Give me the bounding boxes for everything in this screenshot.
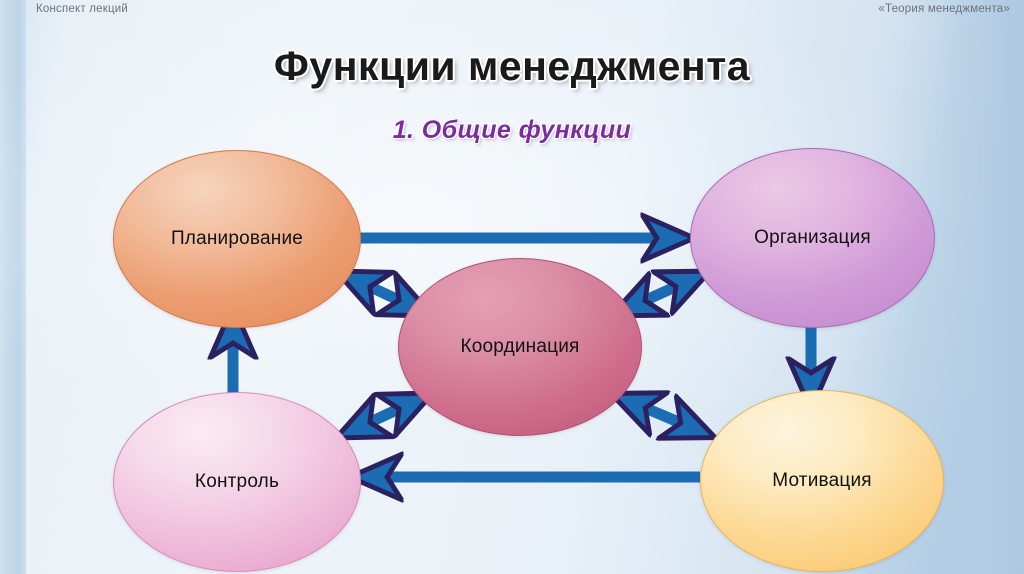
slide: Конспект лекций «Теория менеджмента» Фун… <box>0 0 1024 574</box>
header-left-text: Конспект лекций <box>36 3 128 15</box>
slide-header: Конспект лекций «Теория менеджмента» <box>0 0 1024 22</box>
arrow-organization-coordination <box>624 277 697 310</box>
slide-title: Функции менеджмента <box>0 43 1024 90</box>
slide-subtitle: 1. Общие функции <box>0 116 1024 145</box>
node-coordination-label: Координация <box>460 336 579 358</box>
node-planning[interactable]: Планирование <box>113 150 361 328</box>
node-organization-label: Организация <box>754 227 871 249</box>
header-right-text: «Теория менеджмента» <box>878 3 1010 15</box>
node-coordination[interactable]: Координация <box>398 258 642 436</box>
arrow-control-coordination <box>349 399 420 432</box>
node-motivation-label: Мотивация <box>772 470 872 492</box>
node-control-label: Контроль <box>195 471 279 493</box>
arrow-planning-coordination <box>349 277 420 310</box>
node-control[interactable]: Контроль <box>113 392 361 572</box>
node-organization[interactable]: Организация <box>690 148 935 328</box>
node-planning-label: Планирование <box>171 228 303 250</box>
node-motivation[interactable]: Мотивация <box>700 390 944 572</box>
arrow-motivation-coordination <box>624 399 702 432</box>
